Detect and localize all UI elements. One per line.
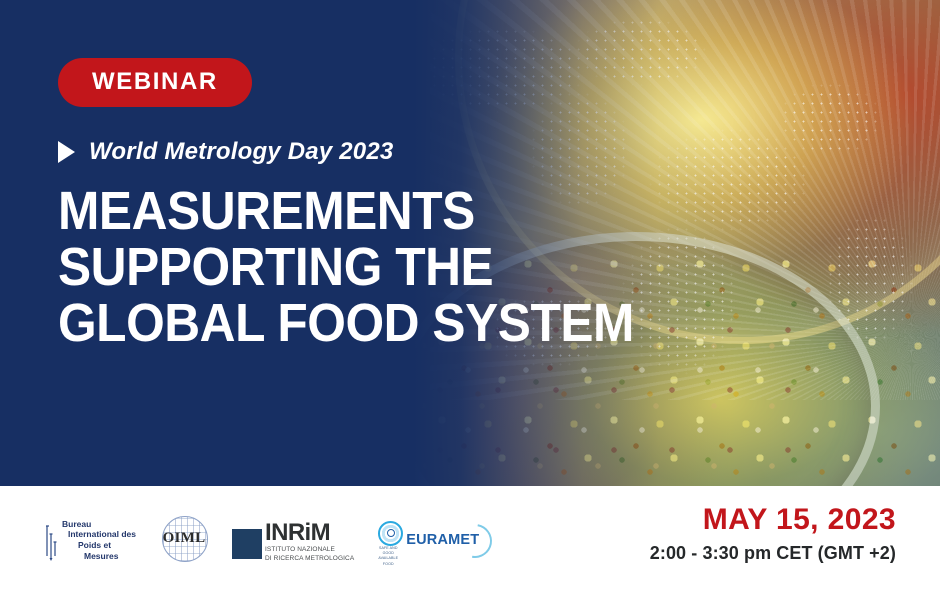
circle-target-icon: SAFE AND GOOD AVAILABLE FOOD bbox=[374, 520, 402, 560]
webinar-badge: WEBINAR bbox=[58, 58, 252, 107]
hero-section: WEBINAR World Metrology Day 2023 MEASURE… bbox=[0, 0, 940, 486]
bipm-wordmark: Bureau International des Poids et Mesure… bbox=[62, 519, 136, 562]
event-date: MAY 15, 2023 bbox=[650, 504, 896, 536]
bipm-logo: Bureau International des Poids et Mesure… bbox=[46, 514, 136, 566]
inrim-subtitle-1: ISTITUTO NAZIONALE bbox=[265, 546, 354, 554]
webinar-banner: WEBINAR World Metrology Day 2023 MEASURE… bbox=[0, 0, 940, 600]
euramet-wordmark-wrap: EURAMET bbox=[406, 531, 479, 549]
euramet-swoosh-icon bbox=[452, 517, 499, 564]
inrim-logo: INRiM ISTITUTO NAZIONALE DI RICERCA METR… bbox=[232, 517, 354, 563]
euramet-caption-line-2: GOOD AVAILABLE FOOD bbox=[378, 551, 398, 565]
footer-bar: Bureau International des Poids et Mesure… bbox=[0, 486, 940, 600]
headline-line-2: SUPPORTING THE bbox=[58, 239, 702, 295]
euramet-caption: SAFE AND GOOD AVAILABLE FOOD bbox=[374, 546, 402, 567]
hero-content: WEBINAR World Metrology Day 2023 MEASURE… bbox=[58, 58, 758, 351]
bipm-line-4: Mesures bbox=[62, 551, 136, 562]
bipm-line-1: Bureau bbox=[62, 519, 136, 530]
page-title: MEASUREMENTS SUPPORTING THE GLOBAL FOOD … bbox=[58, 183, 702, 351]
headline-line-3: GLOBAL FOOD SYSTEM bbox=[58, 295, 702, 351]
euramet-logo: SAFE AND GOOD AVAILABLE FOOD EURAMET bbox=[374, 519, 472, 561]
kicker-text: World Metrology Day 2023 bbox=[89, 138, 393, 166]
bipm-line-3: Poids et bbox=[62, 540, 136, 551]
oiml-wordmark: OIML bbox=[156, 530, 212, 547]
inrim-wordmark: INRiM bbox=[265, 522, 354, 545]
oiml-logo: OIML bbox=[156, 515, 212, 565]
inrim-square-mark bbox=[232, 529, 262, 559]
euramet-circle-glyph bbox=[378, 521, 403, 546]
bipm-bracket-icon bbox=[46, 518, 62, 562]
euramet-caption-line-1: SAFE AND bbox=[379, 546, 398, 550]
play-triangle-icon bbox=[58, 141, 75, 163]
bipm-line-2: International des bbox=[62, 529, 136, 540]
kicker-row: World Metrology Day 2023 bbox=[58, 138, 758, 166]
event-time: 2:00 - 3:30 pm CET (GMT +2) bbox=[650, 544, 896, 564]
inrim-text-block: INRiM ISTITUTO NAZIONALE DI RICERCA METR… bbox=[265, 522, 354, 563]
inrim-subtitle-2: DI RICERCA METROLOGICA bbox=[265, 555, 354, 563]
event-datetime: MAY 15, 2023 2:00 - 3:30 pm CET (GMT +2) bbox=[650, 504, 896, 563]
logo-strip: Bureau International des Poids et Mesure… bbox=[46, 500, 472, 580]
headline-line-1: MEASUREMENTS bbox=[58, 183, 702, 239]
